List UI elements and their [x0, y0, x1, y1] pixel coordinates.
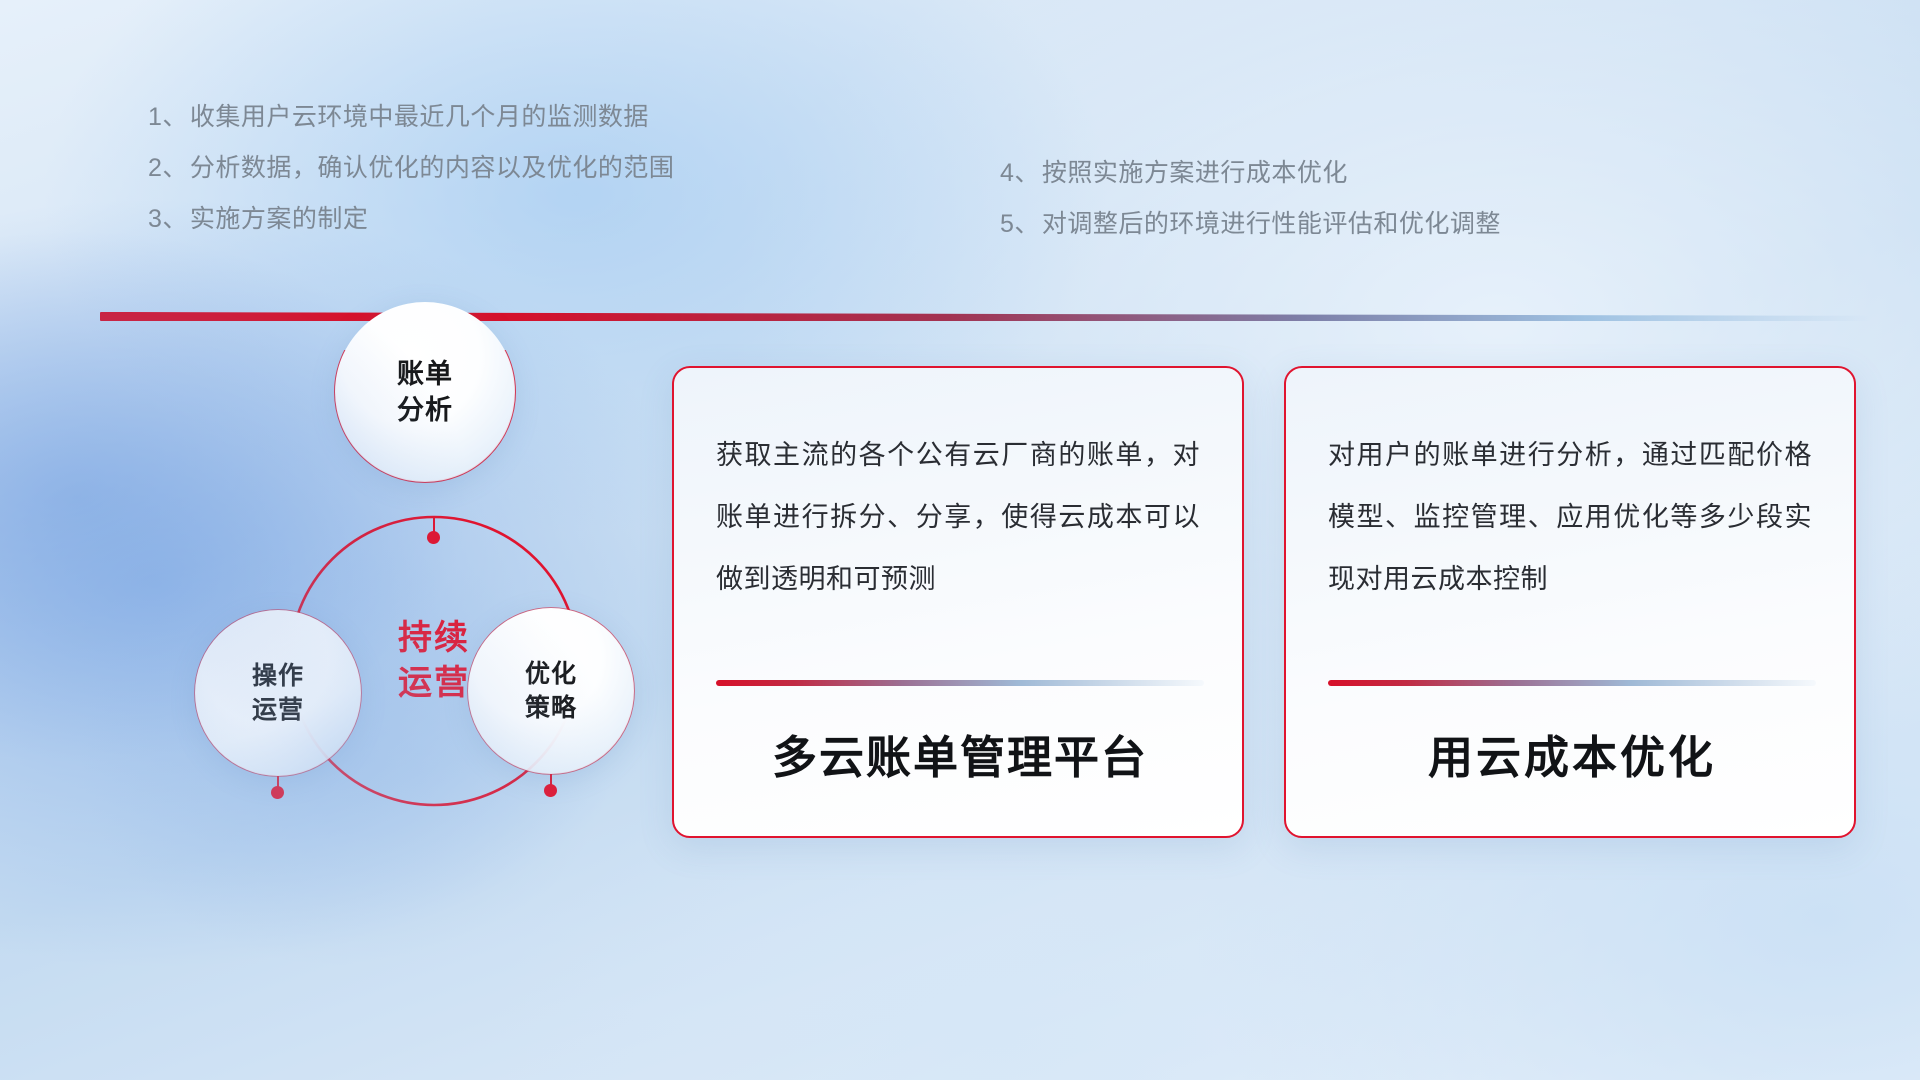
list-item: 5、对调整后的环境进行性能评估和优化调整 — [1000, 199, 1501, 250]
bubble-label: 账单 分析 — [397, 356, 453, 428]
list-item-text: 分析数据，确认优化的内容以及优化的范围 — [190, 154, 675, 182]
list-item: 3、实施方案的制定 — [148, 194, 674, 245]
list-item-text: 对调整后的环境进行性能评估和优化调整 — [1042, 210, 1501, 238]
card-divider — [716, 680, 1204, 686]
card-body-text: 对用户的账单进行分析，通过匹配价格模型、监控管理、应用优化等多少段实现对用云成本… — [1328, 424, 1812, 610]
card-body-text: 获取主流的各个公有云厂商的账单，对账单进行拆分、分享，使得云成本可以做到透明和可… — [716, 424, 1200, 610]
list-item-number: 5、 — [1000, 210, 1040, 238]
center-label-text: 持续 运营 — [398, 616, 470, 706]
list-item-number: 1、 — [148, 103, 188, 131]
connector-dot-bottom-left — [271, 786, 284, 799]
diagram-center-label: 持续 运营 — [288, 515, 580, 807]
list-item-text: 收集用户云环境中最近几个月的监测数据 — [190, 103, 649, 131]
cycle-diagram: 账单 分析 操作 运营 优化 策略 持续 运营 — [100, 350, 640, 950]
list-item: 4、按照实施方案进行成本优化 — [1000, 148, 1501, 199]
card-multi-cloud-billing[interactable]: 获取主流的各个公有云厂商的账单，对账单进行拆分、分享，使得云成本可以做到透明和可… — [672, 366, 1244, 838]
step-list-right: 4、按照实施方案进行成本优化 5、对调整后的环境进行性能评估和优化调整 — [1000, 148, 1501, 250]
list-item-text: 按照实施方案进行成本优化 — [1042, 159, 1348, 187]
bubble-label-line1: 账单 — [397, 359, 453, 389]
list-item-number: 3、 — [148, 205, 188, 233]
center-label-line2: 运营 — [398, 664, 470, 702]
list-item-number: 2、 — [148, 154, 188, 182]
section-divider — [100, 312, 1870, 321]
list-item-number: 4、 — [1000, 159, 1040, 187]
list-item-text: 实施方案的制定 — [190, 205, 369, 233]
card-title: 用云成本优化 — [1328, 721, 1816, 786]
connector-dot-bottom-right — [544, 784, 557, 797]
divider-bar — [100, 312, 1870, 321]
bubble-bill-analysis[interactable]: 账单 分析 — [335, 302, 515, 482]
slide-canvas: 1、收集用户云环境中最近几个月的监测数据 2、分析数据，确认优化的内容以及优化的… — [0, 0, 1920, 1080]
card-cloud-cost-optimization[interactable]: 对用户的账单进行分析，通过匹配价格模型、监控管理、应用优化等多少段实现对用云成本… — [1284, 366, 1856, 838]
center-label-line1: 持续 — [398, 619, 470, 657]
step-list-left: 1、收集用户云环境中最近几个月的监测数据 2、分析数据，确认优化的内容以及优化的… — [148, 92, 674, 245]
card-divider — [1328, 680, 1816, 686]
card-title: 多云账单管理平台 — [716, 721, 1204, 786]
list-item: 2、分析数据，确认优化的内容以及优化的范围 — [148, 143, 674, 194]
bubble-label-line2: 分析 — [397, 395, 453, 425]
list-item: 1、收集用户云环境中最近几个月的监测数据 — [148, 92, 674, 143]
connector-dot-top — [427, 531, 440, 544]
